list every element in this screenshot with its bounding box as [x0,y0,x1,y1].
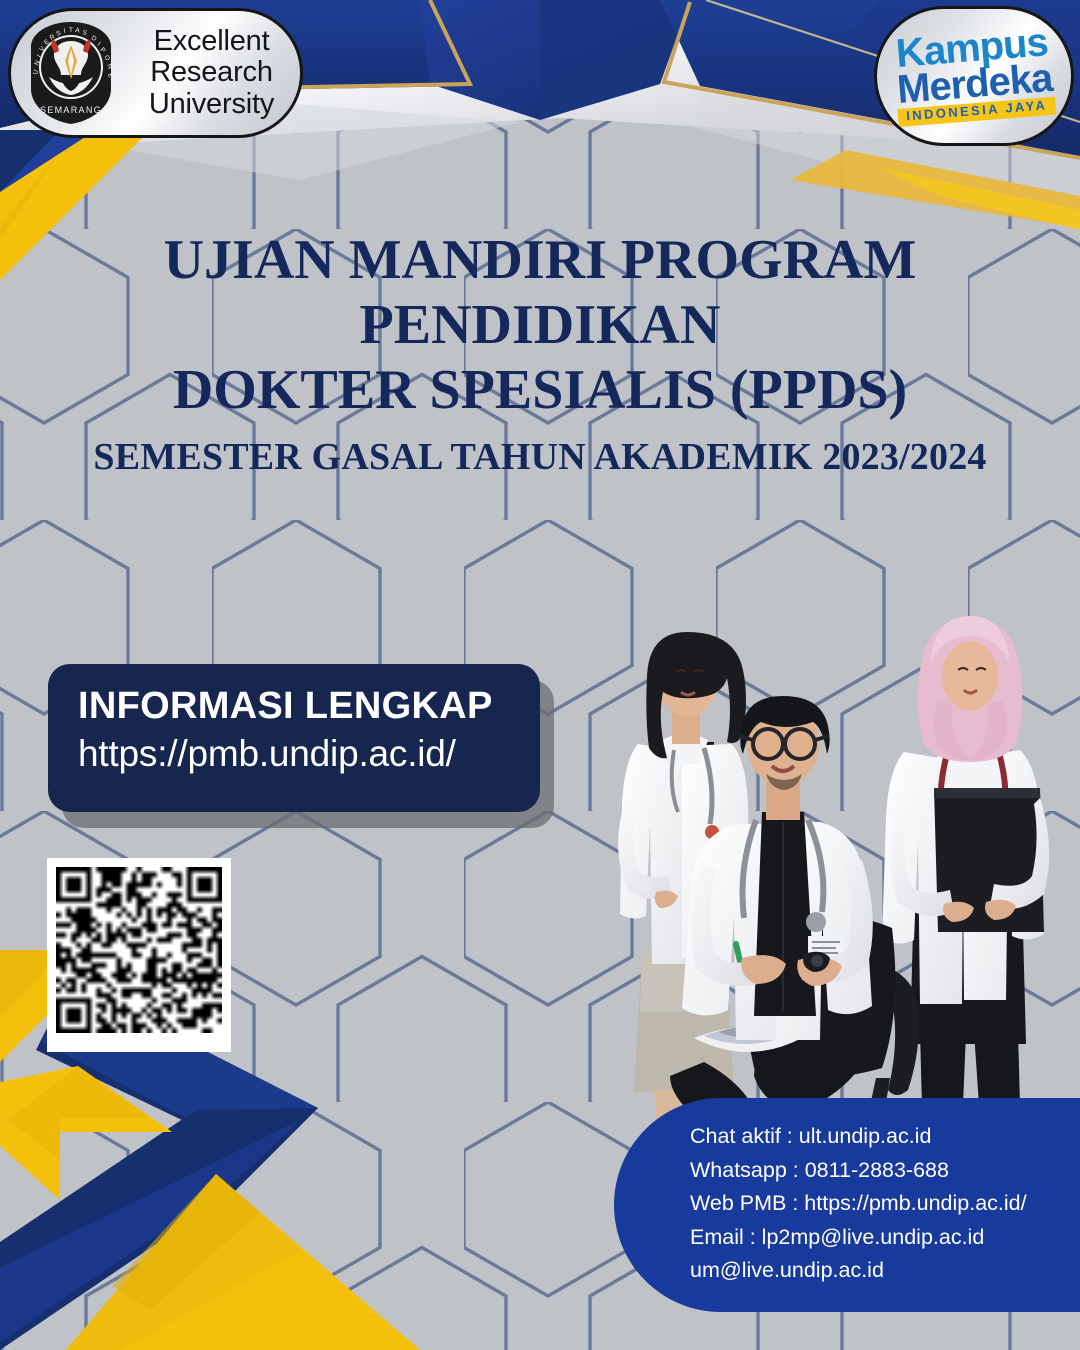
title-line-1: UJIAN MANDIRI PROGRAM PENDIDIKAN [0,228,1080,358]
qr-code[interactable] [47,858,231,1052]
excellent-research-university-badge: SEMARANG U N I V E R S I T A S D I P O N… [8,8,303,138]
svg-text:A: A [75,27,81,35]
title-line-2: DOKTER SPESIALIS (PPDS) [0,358,1080,423]
svg-text:E: E [106,73,114,80]
undip-shield-logo: SEMARANG U N I V E R S I T A S D I P O N… [21,19,121,127]
badge-line-1: Excellent [129,26,294,57]
qr-code-canvas[interactable] [56,867,222,1033]
informasi-lengkap-box[interactable]: INFORMASI LENGKAP https://pmb.undip.ac.i… [48,664,540,812]
title-subtitle: SEMESTER GASAL TAHUN AKADEMIK 2023/2024 [0,435,1080,479]
poster-canvas: SEMARANG U N I V E R S I T A S D I P O N… [0,0,1080,1350]
contact-info-box: Chat aktif : ult.undip.ac.id Whatsapp : … [614,1098,1080,1312]
info-heading: INFORMASI LENGKAP [78,686,540,728]
kampus-merdeka-logo: Kampus Merdeka INDONESIA JAYA [880,13,1068,139]
badge-text-block: Excellent Research University [129,26,300,119]
contact-line-web: Web PMB : https://pmb.undip.ac.id/ [690,1187,1070,1221]
contact-line-chat: Chat aktif : ult.undip.ac.id [690,1120,1070,1154]
contact-line-email-2: um@live.undip.ac.id [690,1254,1070,1288]
svg-text:T: T [69,27,74,34]
svg-text:SEMARANG: SEMARANG [40,105,102,115]
badge-line-3: University [129,89,294,120]
contact-line-email: Email : lp2mp@live.undip.ac.id [690,1221,1070,1255]
kampus-merdeka-badge: Kampus Merdeka INDONESIA JAYA [874,6,1074,146]
info-url[interactable]: https://pmb.undip.ac.id/ [78,732,540,776]
badge-line-2: Research [129,57,294,88]
page-title: UJIAN MANDIRI PROGRAM PENDIDIKAN DOKTER … [0,228,1080,479]
contact-line-whatsapp: Whatsapp : 0811-2883-688 [690,1154,1070,1188]
